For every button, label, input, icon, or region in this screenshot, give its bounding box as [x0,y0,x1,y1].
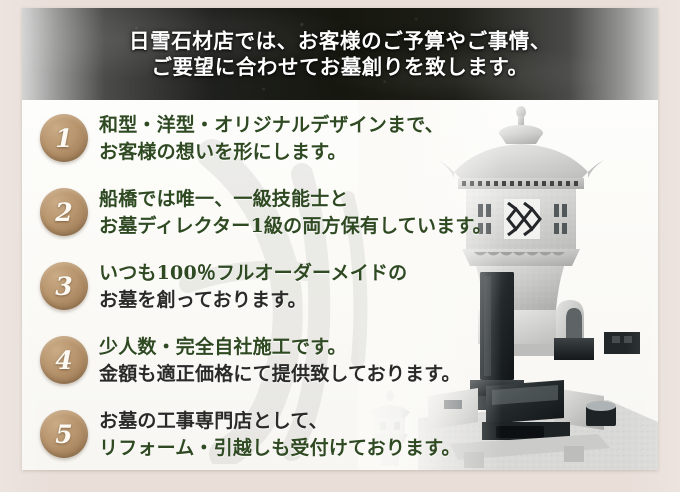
list-item-line: 金額も適正価格にて提供致しております。 [99,361,461,388]
list-item-line: 船橋では唯一、一級技能士と [99,186,492,213]
list-item-line: お墓を創っております。 [99,287,407,314]
list-item-text: 和型・洋型・オリジナルデザインまで、 お客様の想いを形にします。 [99,108,444,166]
list-item: 2 船橋では唯一、一級技能士と お墓ディレクター1級の両方保有しています。 [40,182,658,256]
list-item: 4 少人数・完全自社施工です。 金額も適正価格にて提供致しております。 [40,330,658,404]
list-item-line: いつも100％フルオーダーメイドの [99,260,407,287]
number-badge: 4 [40,336,88,384]
list-item-text: 少人数・完全自社施工です。 金額も適正価格にて提供致しております。 [99,330,461,388]
header-line-2: ご要望に合わせてお墓創りを致します。 [151,55,528,79]
list-item: 5 お墓の工事専門店として、 リフォーム・引越しも受付けております。 [40,404,658,470]
number-badge: 5 [40,410,88,458]
promo-banner: 日雪石材店では、お客様のご予算やご事情、 ご要望に合わせてお墓創りを致します。 [0,0,680,492]
list-item-line: リフォーム・引越しも受付けております。 [99,435,461,462]
content-card: 日雪石材店では、お客様のご予算やご事情、 ご要望に合わせてお墓創りを致します。 [22,8,658,470]
number-badge: 1 [40,114,88,162]
list-item-line: お墓の工事専門店として、 [99,408,461,435]
number-badge: 2 [40,188,88,236]
number-badge: 3 [40,262,88,310]
list-item-text: お墓の工事専門店として、 リフォーム・引越しも受付けております。 [99,404,461,462]
list-item-line: 和型・洋型・オリジナルデザインまで、 [99,112,444,139]
body-area: 1 和型・洋型・オリジナルデザインまで、 お客様の想いを形にします。 2 船橋で… [22,100,658,470]
header-text-block: 日雪石材店では、お客様のご予算やご事情、 ご要望に合わせてお墓創りを致します。 [22,8,658,100]
list-item: 1 和型・洋型・オリジナルデザインまで、 お客様の想いを形にします。 [40,108,658,182]
header-line-1: 日雪石材店では、お客様のご予算やご事情、 [129,29,551,53]
benefits-list: 1 和型・洋型・オリジナルデザインまで、 お客様の想いを形にします。 2 船橋で… [22,100,658,470]
list-item-line: お墓ディレクター1級の両方保有しています。 [99,213,492,240]
list-item-text: 船橋では唯一、一級技能士と お墓ディレクター1級の両方保有しています。 [99,182,492,240]
list-item-text: いつも100％フルオーダーメイドの お墓を創っております。 [99,256,407,314]
list-item-line: 少人数・完全自社施工です。 [99,334,461,361]
header-stone-bar: 日雪石材店では、お客様のご予算やご事情、 ご要望に合わせてお墓創りを致します。 [22,8,658,100]
list-item: 3 いつも100％フルオーダーメイドの お墓を創っております。 [40,256,658,330]
list-item-line: お客様の想いを形にします。 [99,139,444,166]
